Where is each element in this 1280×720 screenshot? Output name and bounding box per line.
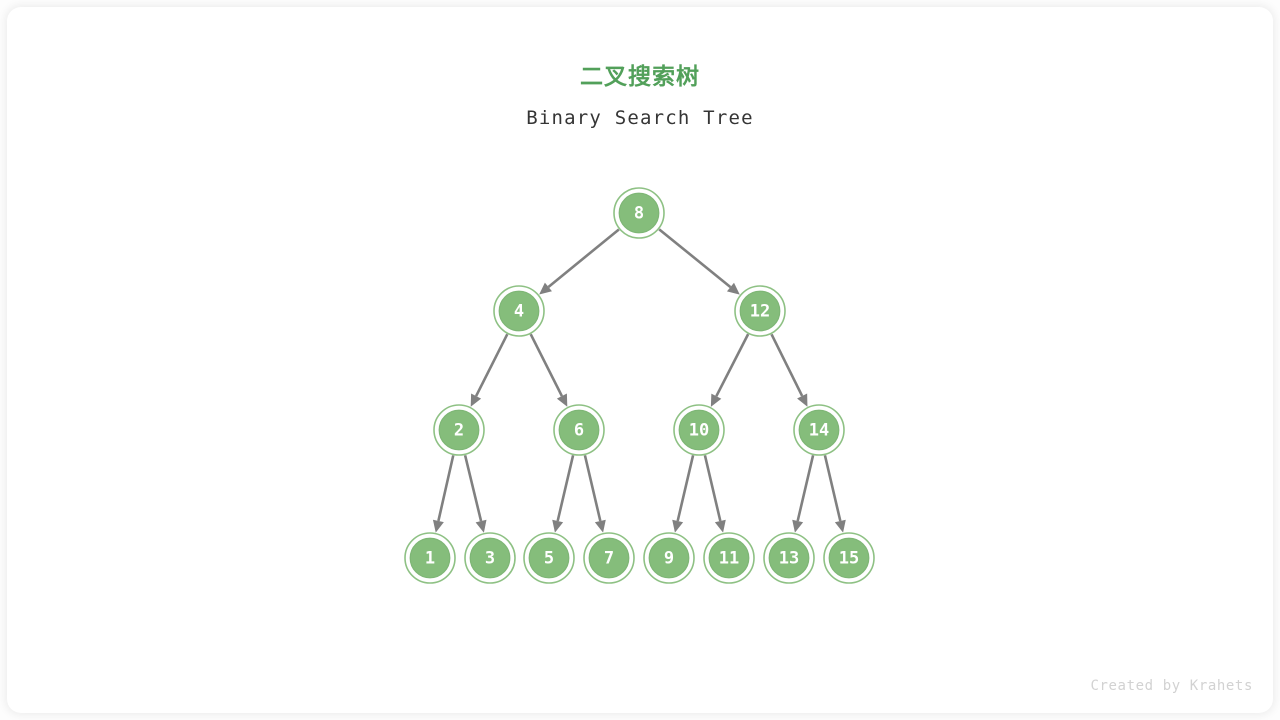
arrow-head-icon [672, 520, 683, 533]
binary-search-tree-graphic: 841226101413579111315 [0, 0, 1280, 720]
node-value-label: 2 [454, 421, 464, 441]
node-value-label: 12 [750, 302, 770, 322]
node-value-label: 3 [485, 549, 495, 569]
tree-edge [772, 334, 808, 406]
tree-edge [433, 455, 453, 532]
tree-node[interactable]: 2 [434, 405, 484, 455]
arrow-head-icon [792, 520, 803, 533]
tree-node[interactable]: 11 [704, 533, 754, 583]
node-value-label: 10 [689, 421, 709, 441]
tree-edge [539, 229, 619, 294]
node-value-label: 6 [574, 421, 584, 441]
tree-node[interactable]: 7 [584, 533, 634, 583]
tree-edge [471, 334, 508, 407]
tree-edge [705, 455, 726, 532]
tree-node[interactable]: 4 [494, 286, 544, 336]
tree-node[interactable]: 12 [735, 286, 785, 336]
arrow-head-icon [433, 520, 444, 533]
tree-node[interactable]: 15 [824, 533, 874, 583]
tree-edge [711, 334, 748, 407]
node-value-label: 7 [604, 549, 614, 569]
arrow-head-icon [715, 520, 726, 533]
tree-node[interactable]: 8 [614, 188, 664, 238]
tree-node[interactable]: 1 [405, 533, 455, 583]
node-value-label: 5 [544, 549, 554, 569]
node-value-label: 11 [719, 549, 739, 569]
arrow-head-icon [595, 520, 606, 533]
node-value-label: 15 [839, 549, 859, 569]
arrow-head-icon [476, 520, 487, 533]
arrow-head-icon [552, 520, 563, 533]
node-value-label: 14 [809, 421, 829, 441]
credit-label: Created by Krahets [1090, 678, 1253, 694]
tree-edge [659, 229, 740, 294]
node-value-label: 9 [664, 549, 674, 569]
tree-node[interactable]: 9 [644, 533, 694, 583]
tree-node[interactable]: 5 [524, 533, 574, 583]
tree-node[interactable]: 13 [764, 533, 814, 583]
node-value-label: 4 [514, 302, 524, 322]
tree-edge [531, 334, 568, 407]
tree-edges-layer [433, 229, 846, 532]
node-value-label: 13 [779, 549, 799, 569]
tree-edge [672, 455, 693, 532]
arrow-head-icon [835, 520, 846, 533]
tree-edge [552, 455, 573, 532]
diagram-canvas: 二叉搜索树 Binary Search Tree 841226101413579… [0, 0, 1280, 720]
tree-node[interactable]: 10 [674, 405, 724, 455]
tree-nodes-layer: 841226101413579111315 [405, 188, 874, 583]
node-value-label: 1 [425, 549, 435, 569]
tree-edge [792, 455, 813, 532]
tree-edge [585, 455, 606, 532]
node-value-label: 8 [634, 204, 644, 224]
tree-edge [465, 455, 486, 532]
tree-node[interactable]: 6 [554, 405, 604, 455]
tree-edge [825, 455, 846, 532]
tree-node[interactable]: 3 [465, 533, 515, 583]
tree-node[interactable]: 14 [794, 405, 844, 455]
